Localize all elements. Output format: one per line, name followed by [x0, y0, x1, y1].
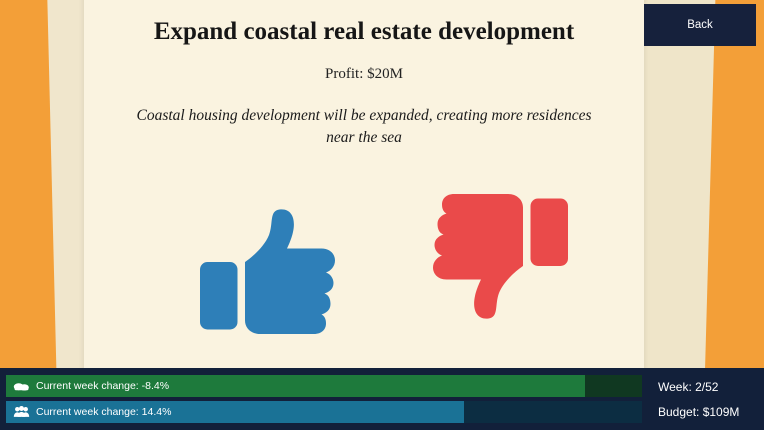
- thumbs-down-icon: [424, 188, 574, 338]
- population-meter-label: Current week change: 14.4%: [36, 406, 171, 418]
- environment-icon: [13, 379, 30, 393]
- profit-label: Profit: $20M: [84, 66, 644, 83]
- status-bar: Current week change: -8.4% Current week …: [0, 368, 764, 430]
- population-icon: [13, 405, 30, 419]
- page-title: Expand coastal real estate development: [84, 17, 644, 47]
- budget-stat: Budget: $109M: [658, 405, 739, 419]
- environment-meter: Current week change: -8.4%: [6, 375, 642, 397]
- back-button[interactable]: Back: [644, 4, 756, 46]
- environment-meter-label: Current week change: -8.4%: [36, 380, 169, 392]
- approve-button[interactable]: [194, 196, 344, 346]
- game-screen: Expand coastal real estate development P…: [0, 0, 764, 430]
- choice-row: [84, 188, 644, 348]
- meters: Current week change: -8.4% Current week …: [0, 368, 648, 430]
- week-stat: Week: 2/52: [658, 380, 718, 394]
- game-stats: Week: 2/52 Budget: $109M: [648, 368, 764, 430]
- policy-description: Coastal housing development will be expa…: [84, 105, 644, 149]
- population-meter: Current week change: 14.4%: [6, 401, 642, 423]
- reject-button[interactable]: [424, 188, 574, 338]
- thumbs-up-icon: [194, 196, 344, 346]
